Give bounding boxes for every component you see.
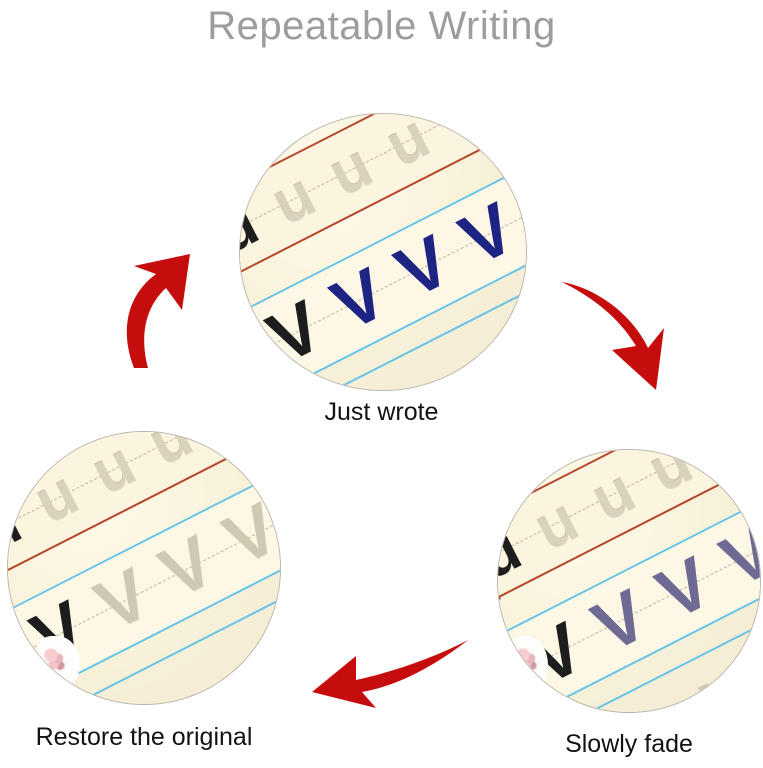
arrow-just-wrote-to-slowly-fade	[560, 272, 700, 392]
step-image-slowly-fade: u u u u u V V V V V V 伞	[498, 450, 760, 712]
template-letter-v: V	[692, 657, 760, 712]
template-letter-v: V	[756, 624, 760, 710]
caption-restore-the-original: Restore the original	[8, 722, 280, 752]
page-title: Repeatable Writing	[0, 2, 763, 50]
caption-slowly-fade: Slowly fade	[498, 729, 760, 759]
caption-just-wrote: Just wrote	[0, 397, 763, 427]
step-image-just-wrote: u u u u u V V V V	[240, 114, 526, 390]
flower-decoration	[42, 646, 68, 672]
ruled-sheet-just-wrote: u u u u u V V V V	[240, 114, 526, 390]
flower-decoration	[514, 646, 540, 672]
step-image-restore-the-original: u u u u u V V V V V 伞	[8, 432, 280, 704]
arrow-slowly-fade-to-restore	[300, 638, 470, 708]
arrow-restore-to-just-wrote	[112, 252, 212, 370]
